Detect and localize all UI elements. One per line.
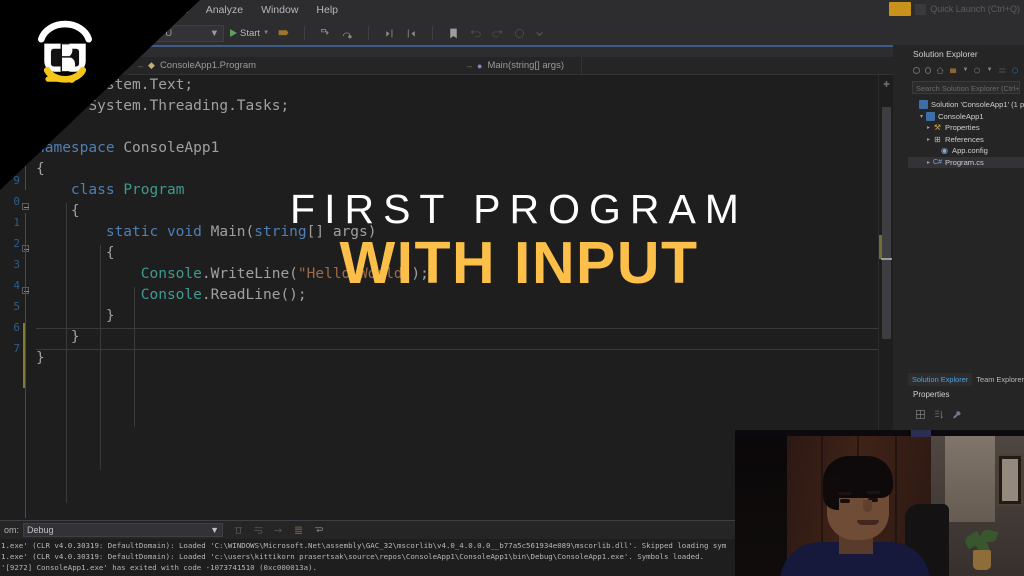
menu-item-analyze[interactable]: Analyze <box>197 0 252 21</box>
toolbar-separator <box>432 26 433 40</box>
method-icon: ● <box>477 61 482 71</box>
code-token: System.Threading.Tasks; <box>88 98 289 114</box>
code-token <box>36 266 141 282</box>
code-token <box>36 287 141 303</box>
code-token: string <box>254 224 306 240</box>
debug-toolbar-icons <box>277 26 544 40</box>
start-debug-button[interactable]: Start ▼ <box>230 28 269 39</box>
code-token: Console <box>141 266 202 282</box>
wrench-icon: ⚒ <box>933 123 942 132</box>
tree-item-5[interactable]: ▸C#Program.cs <box>908 157 1024 169</box>
properties-panel-toolbar <box>908 403 1024 426</box>
wrench-icon[interactable] <box>951 409 962 420</box>
home-icon[interactable] <box>936 66 944 75</box>
scrollbar-thumb[interactable] <box>882 107 891 339</box>
output-source-dropdown[interactable]: Debug ▼ <box>23 523 223 537</box>
tree-item-1[interactable]: ▾ConsoleApp1 <box>908 111 1024 123</box>
csharp-file-icon: C# <box>933 158 942 167</box>
scroll-up-icon[interactable]: ✚ <box>882 80 891 89</box>
class-scope-value: ConsoleApp1.Program <box>160 60 256 71</box>
categorized-icon[interactable] <box>915 409 926 420</box>
collapse-all-icon[interactable] <box>998 66 1006 75</box>
collapse-icon: – <box>138 61 143 71</box>
code-line[interactable]: } <box>36 348 429 369</box>
solution-explorer-tabs: Solution Explorer Team Explorer <box>908 373 1024 386</box>
line-number: 7 <box>0 338 20 359</box>
toolbar-separator <box>368 26 369 40</box>
class-icon: ◆ <box>148 60 155 71</box>
code-line[interactable]: Console.WriteLine("Hello World"); <box>36 264 429 285</box>
menu-item-help[interactable]: Help <box>307 0 347 21</box>
tree-item-label: Program.cs <box>945 158 984 167</box>
tree-item-label: References <box>945 135 984 144</box>
editor-navigation-bar: – ◆ ConsoleApp1.Program – ● Main(string[… <box>128 57 893 75</box>
line-number: 3 <box>0 254 20 275</box>
code-line[interactable]: } <box>36 306 429 327</box>
tree-item-label: Properties <box>945 123 980 132</box>
code-token: Main <box>211 224 246 240</box>
list-icon[interactable] <box>293 525 304 536</box>
play-icon <box>230 29 237 37</box>
line-number: 6 <box>0 317 20 338</box>
tree-item-0[interactable]: Solution 'ConsoleApp1' (1 p <box>908 99 1024 111</box>
navbar-divider <box>581 57 582 75</box>
bookmark-orange-icon[interactable] <box>277 27 290 40</box>
code-token: ); <box>411 266 428 282</box>
code-token: .WriteLine( <box>202 266 298 282</box>
step-out-icon[interactable] <box>383 27 396 40</box>
config-icon: ◉ <box>940 146 949 155</box>
editor-tab-strip[interactable] <box>128 45 893 57</box>
code-token: class <box>36 182 123 198</box>
code-token: "Hello World" <box>298 266 412 282</box>
tab-solution-explorer[interactable]: Solution Explorer <box>908 373 972 386</box>
line-number: 2 <box>0 233 20 254</box>
clear-all-icon[interactable] <box>233 525 244 536</box>
collapse-icon: – <box>467 61 472 71</box>
solution-tree[interactable]: Solution 'ConsoleApp1' (1 p▾ConsoleApp1▸… <box>908 97 1024 168</box>
toolbar-overflow-icon[interactable] <box>535 27 544 40</box>
toolbar-separator <box>304 26 305 40</box>
code-token: } <box>36 350 45 366</box>
chevron-down-icon[interactable]: ▼ <box>263 30 269 36</box>
scrollbar-caret-marker <box>881 258 892 260</box>
solution-explorer-search-input[interactable]: Search Solution Explorer (Ctrl+;) <box>912 81 1020 94</box>
solution-explorer-toolbar: ▼ ▼ <box>908 62 1024 78</box>
chevron-down-icon: ▼ <box>210 28 219 39</box>
bee-face-logo <box>28 14 102 88</box>
properties-panel: Properties <box>908 386 1024 431</box>
code-line[interactable]: namespace ConsoleApp1 <box>36 138 429 159</box>
code-token: Program <box>123 182 184 198</box>
code-token: { <box>36 245 115 261</box>
output-action-icons <box>229 525 324 536</box>
code-token: Console <box>141 287 202 303</box>
line-number: 0 <box>0 191 20 212</box>
class-scope-dropdown[interactable]: – ◆ ConsoleApp1.Program <box>128 60 453 71</box>
sync-icon[interactable] <box>513 27 526 40</box>
tree-twisty-icon[interactable]: ▸ <box>924 159 933 166</box>
undo-icon[interactable] <box>469 27 482 40</box>
code-token: static void <box>36 224 211 240</box>
code-line[interactable]: } <box>36 327 429 348</box>
code-line[interactable]: { <box>36 201 429 222</box>
code-line[interactable]: { <box>36 243 429 264</box>
code-token: } <box>36 329 80 345</box>
member-scope-dropdown[interactable]: – ● Main(string[] args) <box>453 60 564 71</box>
start-button-label: Start <box>240 28 260 39</box>
code-token: { <box>36 203 80 219</box>
step-over-icon[interactable] <box>341 27 354 40</box>
properties-icon[interactable] <box>1011 66 1019 75</box>
code-line[interactable]: { <box>36 159 429 180</box>
code-token: ( <box>246 224 255 240</box>
chevron-down-icon[interactable]: ▼ <box>987 67 993 73</box>
code-line[interactable] <box>36 117 429 138</box>
bookmark-icon[interactable] <box>447 27 460 40</box>
window-restore-icon[interactable] <box>889 2 911 16</box>
window-close-icon[interactable] <box>915 4 926 15</box>
screenshot-root: ols Test Analyze Window Help Quick Launc… <box>0 0 1024 576</box>
code-token: [] args) <box>307 224 377 240</box>
redo-icon[interactable] <box>491 27 504 40</box>
back-icon[interactable] <box>913 67 920 74</box>
menu-item-window[interactable]: Window <box>252 0 307 21</box>
quick-launch-input[interactable]: Quick Launch (Ctrl+Q) <box>930 4 1020 14</box>
restart-icon[interactable] <box>405 27 418 40</box>
go-to-message-icon[interactable] <box>273 525 284 536</box>
line-number: 4 <box>0 275 20 296</box>
code-line[interactable]: class Program <box>36 180 429 201</box>
solution-explorer-title: Solution Explorer <box>908 45 1024 62</box>
webcam-scrim <box>735 430 1024 576</box>
code-text[interactable]: using System;using System.Collections.Ge… <box>36 75 429 369</box>
line-number: 1 <box>0 212 20 233</box>
tree-item-label: ConsoleApp1 <box>938 112 984 121</box>
output-source-label: om: <box>0 525 23 535</box>
tab-team-explorer[interactable]: Team Explorer <box>972 373 1024 386</box>
tree-item-2[interactable]: ▸⚒Properties <box>908 122 1024 134</box>
tree-twisty-icon[interactable]: ▸ <box>924 124 933 131</box>
chevron-down-icon[interactable]: ▼ <box>963 67 969 73</box>
refresh-icon[interactable] <box>973 66 981 75</box>
code-token: .ReadLine(); <box>202 287 307 303</box>
code-token: ConsoleApp1 <box>123 140 219 156</box>
presenter-webcam-overlay <box>735 430 1024 576</box>
tree-twisty-icon[interactable]: ▾ <box>917 113 926 120</box>
code-line[interactable]: Console.ReadLine(); <box>36 285 429 306</box>
references-icon: ⊞ <box>933 135 942 144</box>
tree-twisty-icon[interactable]: ▸ <box>924 136 933 143</box>
tree-item-label: Solution 'ConsoleApp1' (1 p <box>931 100 1024 109</box>
chevron-down-icon: ▼ <box>210 525 219 535</box>
code-token: { <box>36 161 45 177</box>
tree-item-label: App.config <box>952 146 988 155</box>
solution-explorer-panel: Solution Explorer ▼ ▼ Search Solution Ex… <box>908 45 1024 373</box>
quick-launch-area[interactable]: Quick Launch (Ctrl+Q) <box>889 2 1020 16</box>
solution-icon <box>919 100 928 109</box>
fold-guide <box>25 213 26 518</box>
fold-toggle-namespace[interactable] <box>22 203 29 210</box>
code-token: } <box>36 308 115 324</box>
show-all-files-icon[interactable] <box>949 66 957 75</box>
line-number: 5 <box>0 296 20 317</box>
step-into-icon[interactable] <box>319 27 332 40</box>
toggle-wordwrap-icon[interactable] <box>253 525 264 536</box>
tree-item-3[interactable]: ▸⊞References <box>908 134 1024 146</box>
member-scope-value: Main(string[] args) <box>487 60 564 71</box>
code-line[interactable]: static void Main(string[] args) <box>36 222 429 243</box>
tree-item-4[interactable]: ◉App.config <box>908 145 1024 157</box>
project-icon <box>926 112 935 121</box>
wrap-icon[interactable] <box>313 525 324 536</box>
alphabetical-icon[interactable] <box>933 409 944 420</box>
properties-panel-title: Properties <box>908 386 1024 403</box>
forward-icon[interactable] <box>925 67 932 74</box>
output-source-value: Debug <box>27 525 54 535</box>
